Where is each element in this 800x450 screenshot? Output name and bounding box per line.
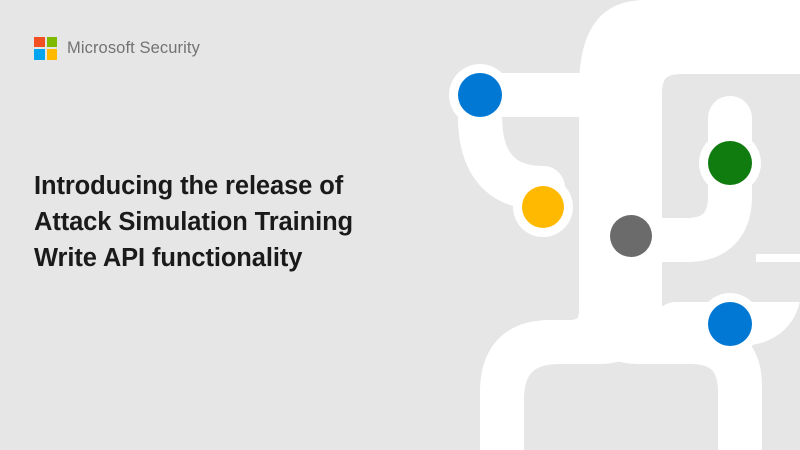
microsoft-logo <box>34 37 57 60</box>
page-title: Introducing the release of Attack Simula… <box>34 168 434 276</box>
node-blue-bottom-right <box>708 302 752 346</box>
slide-canvas: Microsoft Security Introducing the relea… <box>0 0 800 450</box>
plate-right-column <box>756 96 800 246</box>
connector-plates <box>579 0 800 346</box>
notch-upper-right <box>667 74 800 254</box>
connector-paths <box>480 52 800 450</box>
ring-node-green <box>699 132 761 194</box>
connector-paths-overlay <box>480 95 740 450</box>
overlay-bottom-right <box>601 310 740 450</box>
node-green <box>708 141 752 185</box>
logo-tile-green <box>47 37 58 48</box>
notch-mid-right <box>676 262 800 302</box>
plate-right-elbow <box>676 200 800 346</box>
overlay-bottom-left <box>502 250 601 450</box>
network-nodes <box>458 73 752 346</box>
path-left-hook <box>480 95 543 207</box>
brand-lockup: Microsoft Security <box>34 36 200 60</box>
logo-tile-blue <box>34 49 45 60</box>
headline-line-2: Attack Simulation Training <box>34 204 434 240</box>
overlay-green-return <box>631 118 730 240</box>
network-artwork-svg <box>440 0 800 450</box>
overlay-left-hook <box>480 95 543 207</box>
network-artwork <box>440 0 800 450</box>
background-notches <box>440 0 800 302</box>
path-main-trunk <box>502 240 640 450</box>
node-yellow <box>522 186 564 228</box>
logo-tile-yellow <box>47 49 58 60</box>
node-blue-top-left <box>458 73 502 117</box>
path-top-band <box>640 52 800 240</box>
notch-top-left <box>440 0 579 110</box>
path-blue-node-branch <box>730 200 780 324</box>
logo-tile-orange <box>34 37 45 48</box>
headline-line-3: Write API functionality <box>34 240 434 276</box>
brand-name: Microsoft Security <box>67 40 200 57</box>
headline-line-1: Introducing the release of <box>34 168 434 204</box>
plate-top-right <box>579 0 800 300</box>
path-bottom-scurve <box>640 300 740 450</box>
ring-node-blue-bottom-right <box>699 293 761 355</box>
node-gray <box>610 215 652 257</box>
path-green-node-top <box>730 118 800 163</box>
ring-node-blue-top-left <box>449 64 511 126</box>
path-green-node-return <box>631 163 730 240</box>
node-rings <box>449 64 761 355</box>
ring-node-yellow <box>513 177 573 237</box>
